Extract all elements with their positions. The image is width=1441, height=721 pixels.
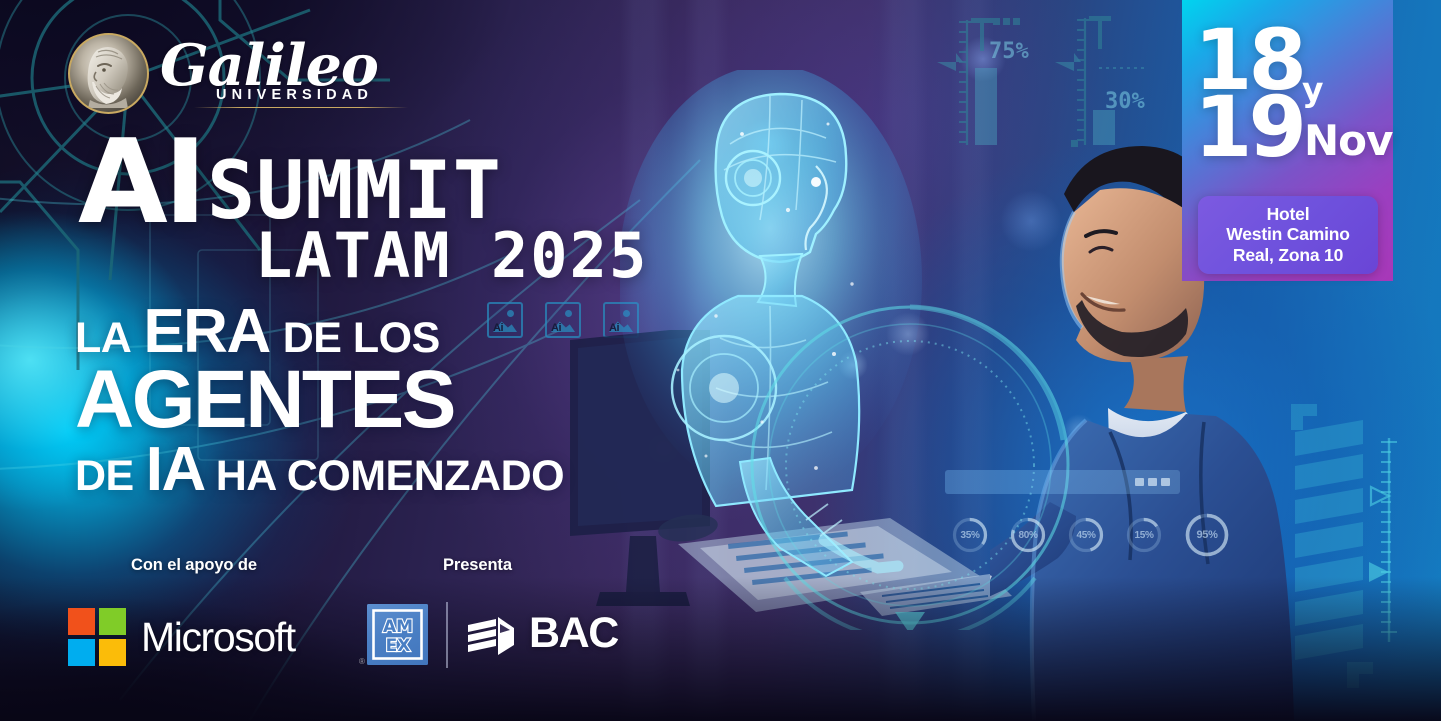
microsoft-square-red <box>68 608 95 635</box>
bac-mark-icon <box>466 611 520 657</box>
tagline-agentes: AGENTES <box>75 361 454 438</box>
amex-blue-box-icon: AM EX <box>367 604 428 665</box>
date-conjunction: y <box>1302 73 1324 106</box>
title-ai: AI <box>78 133 203 233</box>
tagline-line-2: AGENTES <box>75 361 564 438</box>
event-date-panel: 18 19 y Nov Hotel Westin Camino Real, Zo… <box>1182 0 1393 281</box>
microsoft-logo: Microsoft <box>68 608 295 666</box>
tagline-ha-comenzado: HA COMENZADO <box>216 452 564 501</box>
microsoft-square-yellow <box>99 639 126 666</box>
amex-wordmark: AM EX <box>367 604 428 665</box>
title-latam-year: LATAM 2025 <box>255 225 648 287</box>
galileo-name: Galileo <box>160 39 408 93</box>
event-banner: 75% 30% Ai Ai Ai <box>0 0 1441 721</box>
bac-logo: BAC <box>466 609 618 658</box>
microsoft-square-blue <box>68 639 95 666</box>
title-summit: SUMMIT <box>207 154 502 228</box>
amex-logo: AM EX ® <box>367 604 428 665</box>
galileo-divider-rule <box>194 107 408 109</box>
venue-line-1: Hotel <box>1204 204 1372 224</box>
title-first-row: AI SUMMIT <box>78 133 648 233</box>
tagline-de: DE <box>75 452 134 501</box>
sponsor-support-label: Con el apoyo de <box>131 556 257 575</box>
galileo-university-logo: Galileo UNIVERSIDAD <box>68 33 408 114</box>
microsoft-wordmark: Microsoft <box>141 614 295 661</box>
sponsor-divider <box>446 602 448 668</box>
venue-line-2: Westin Camino <box>1204 224 1372 244</box>
galileo-bust-illustration <box>80 42 138 108</box>
event-dates: 18 19 y Nov <box>1182 0 1393 161</box>
svg-text:EX: EX <box>386 636 411 656</box>
microsoft-squares-icon <box>68 608 126 666</box>
sponsor-presents-label: Presenta <box>443 556 512 575</box>
galileo-bust-seal-icon <box>68 33 149 114</box>
venue-line-3: Real, Zona 10 <box>1204 245 1372 265</box>
date-month: Nov <box>1304 120 1392 162</box>
amex-registered-mark: ® <box>359 657 365 666</box>
bac-wordmark: BAC <box>529 609 618 658</box>
tagline-ia: IA <box>146 434 205 505</box>
venue-badge: Hotel Westin Camino Real, Zona 10 <box>1198 196 1378 274</box>
event-title: AI SUMMIT LATAM 2025 <box>78 133 648 287</box>
galileo-subtitle: UNIVERSIDAD <box>216 87 408 103</box>
svg-text:AM: AM <box>383 617 413 637</box>
event-tagline: LA ERA DE LOS AGENTES DE IA HA COMENZADO <box>75 296 564 505</box>
galileo-wordmark: Galileo UNIVERSIDAD <box>160 39 408 108</box>
microsoft-square-green <box>99 608 126 635</box>
